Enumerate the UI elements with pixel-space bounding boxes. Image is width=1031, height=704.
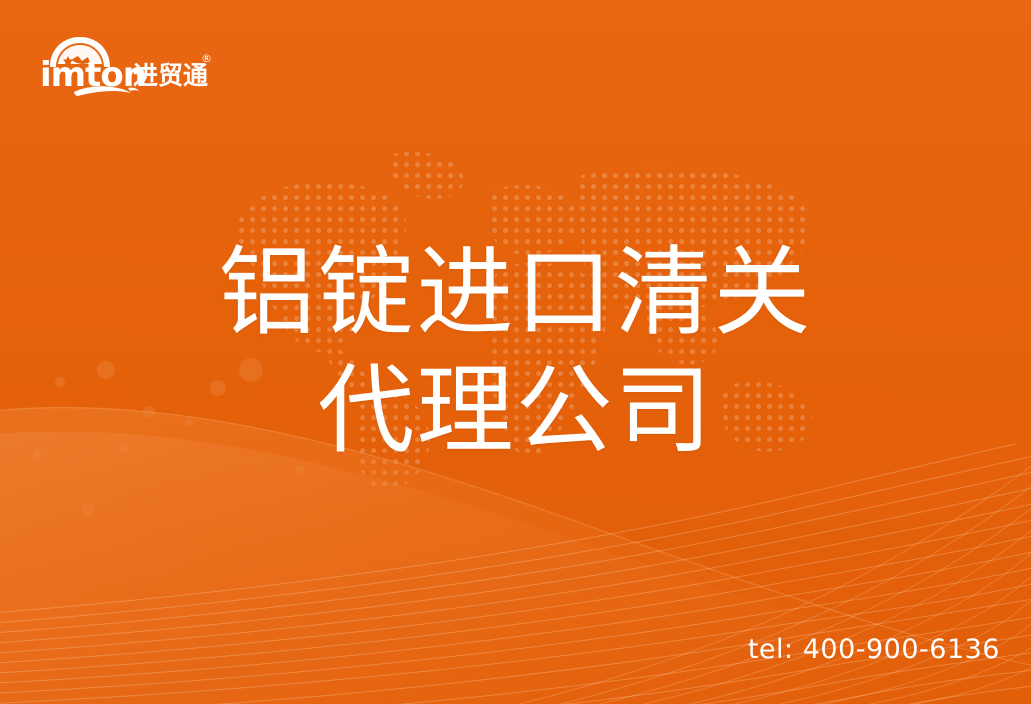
headline-line-2: 代理公司 [0, 352, 1031, 470]
headline-line-1: 铝锭进口清关 [0, 234, 1031, 352]
brand-logo[interactable]: imton 进贸通 ® [38, 30, 213, 102]
promo-banner: imton 进贸通 ® 铝锭进口清关 代理公司 tel: 400-900-613… [0, 0, 1031, 704]
registered-mark-icon: ® [201, 52, 212, 65]
line-fan-decoration [0, 444, 1031, 704]
logo-wordmark-latin: imton [40, 55, 146, 95]
logo-wordmark-chinese: 进贸通 [133, 61, 208, 90]
page-title: 铝锭进口清关 代理公司 [0, 234, 1031, 471]
contact-phone[interactable]: tel: 400-900-6136 [748, 634, 1000, 665]
